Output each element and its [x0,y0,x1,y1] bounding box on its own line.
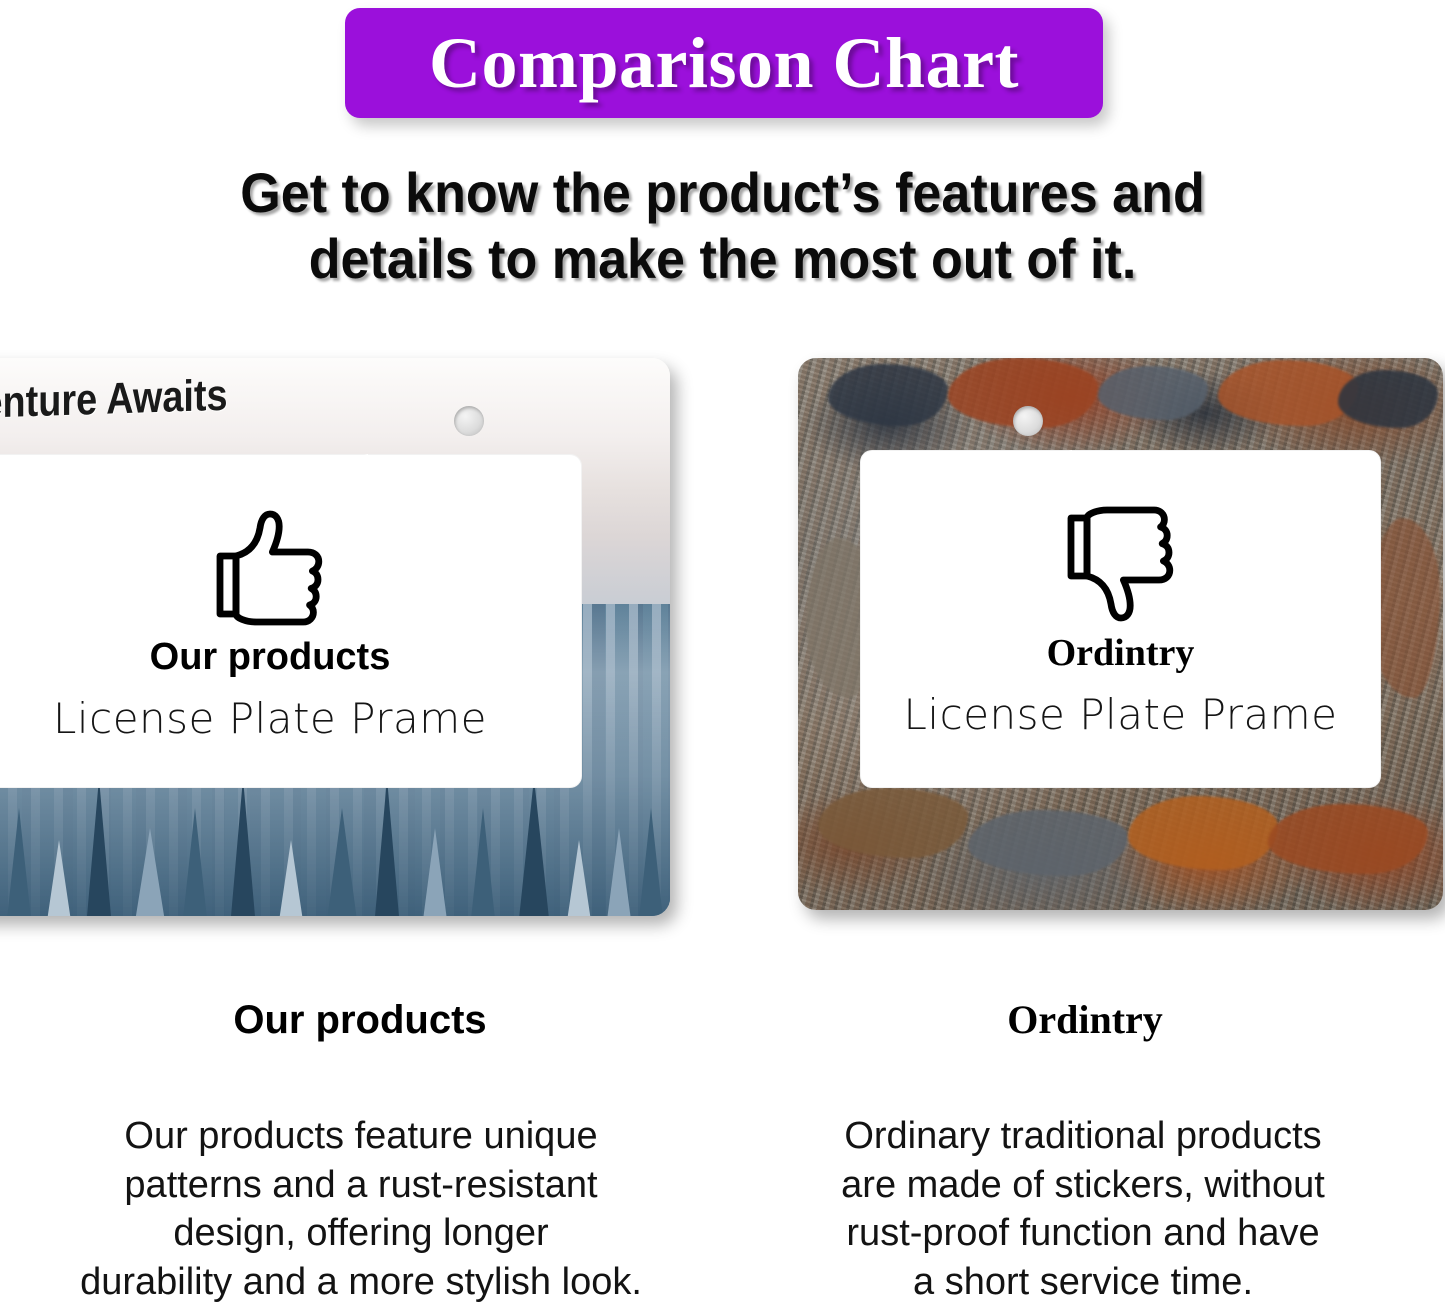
left-desc-line-2: patterns and a rust-resistant [18,1161,704,1210]
our-product-plate: Adventure Awaits Our products License Pl… [0,358,670,916]
left-column-description: Our products feature unique patterns and… [18,1112,704,1307]
left-column-heading: Our products [0,1000,720,1040]
mounting-hole [454,406,484,436]
comparison-chart-banner: Comparison Chart [345,8,1103,118]
plate-engraving-text: Adventure Awaits [0,371,306,428]
subtitle-line-2: details to make the most out of it. [51,226,1395,292]
left-desc-line-1: Our products feature unique [18,1112,704,1161]
mounting-hole [1013,406,1043,436]
chrome-forest-frame-texture: Adventure Awaits Our products License Pl… [0,358,670,916]
left-desc-line-3: design, offering longer [18,1209,704,1258]
ordinary-product-plate: Ordintry License Plate Prame [798,358,1443,910]
right-column-description: Ordinary traditional products are made o… [740,1112,1426,1307]
right-desc-line-3: rust-proof function and have [740,1209,1426,1258]
rusted-frame-texture: Ordintry License Plate Prame [798,358,1443,910]
right-desc-line-4: a short service time. [740,1258,1426,1307]
left-desc-line-4: durability and a more stylish look. [18,1258,704,1307]
left-plate-window [0,454,582,788]
right-desc-line-2: are made of stickers, without [740,1161,1426,1210]
page-subtitle: Get to know the product’s features and d… [51,160,1395,292]
subtitle-line-1: Get to know the product’s features and [51,160,1395,226]
right-desc-line-1: Ordinary traditional products [740,1112,1426,1161]
page-title: Comparison Chart [429,27,1019,99]
right-column-heading: Ordintry [725,1000,1445,1040]
right-plate-window [860,450,1381,788]
